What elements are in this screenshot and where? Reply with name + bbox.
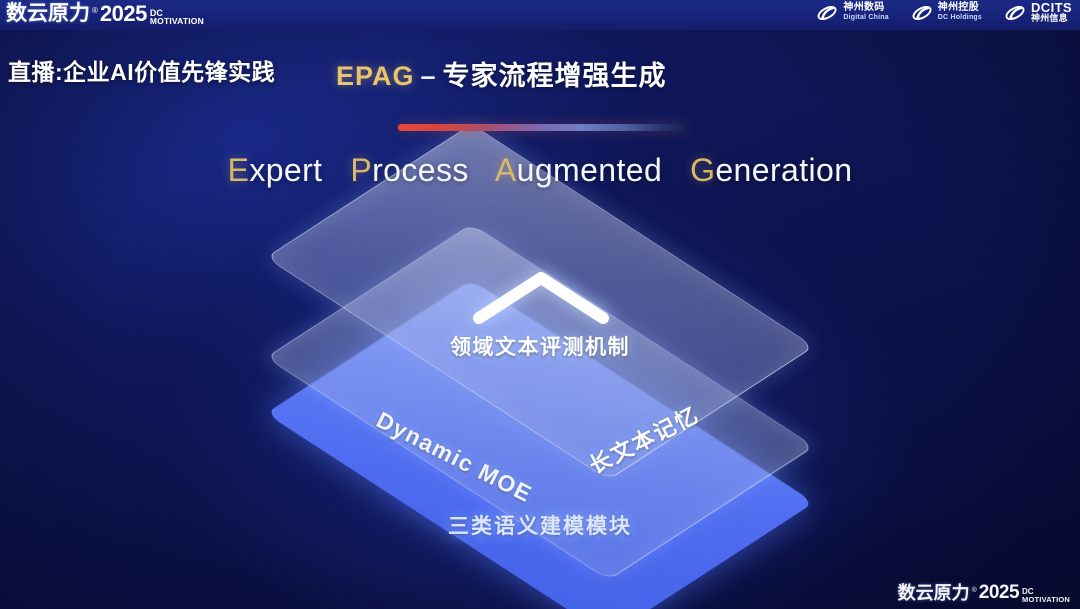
logo-label-en: Digital China <box>843 13 888 23</box>
logo-label-cn: DCITS <box>1031 3 1072 13</box>
watermark-registered-mark: ® <box>972 585 977 597</box>
logo-dcits: DCITS 神州信息 <box>1004 2 1072 24</box>
title-chinese: 专家流程增强生成 <box>443 61 667 91</box>
watermark-year: 2025 <box>979 581 1019 605</box>
swirl-logo-icon <box>911 2 933 24</box>
subtitle-cap-p: P <box>350 152 372 188</box>
subtitle-rest-generation: eneration <box>715 152 852 188</box>
live-broadcast-label: 直播:企业AI价值先锋实践 <box>8 53 275 87</box>
slide-canvas: 领域文本评测机制 Dynamic MOE 长文本记忆 三类语义建模模块 Expe… <box>0 0 1080 609</box>
title-dash: – <box>421 61 437 91</box>
brand-motivation-label: MOTIVATION <box>150 17 204 25</box>
logo-label-cn: 神州控股 <box>938 3 982 13</box>
logo-label-en: DC Holdings <box>938 13 982 23</box>
subtitle-rest-expert: xpert <box>249 152 322 188</box>
title-acronym: EPAG <box>336 61 415 91</box>
brand-name-cn: 数云原力 <box>6 2 90 26</box>
partner-logos: 神州数码 Digital China 神州控股 DC Holdings <box>816 2 1072 24</box>
gradient-divider <box>398 124 684 131</box>
subtitle-rest-augmented: ugmented <box>517 152 663 188</box>
subtitle-rest-process: rocess <box>372 152 469 188</box>
chevron-up-icon <box>471 268 611 326</box>
swirl-logo-icon <box>1004 2 1026 24</box>
logo-label-cn: 神州数码 <box>843 3 888 13</box>
watermark-name-cn: 数云原力 <box>898 581 970 605</box>
brand-year: 2025 <box>100 2 147 26</box>
logo-digital-china: 神州数码 Digital China <box>816 2 888 24</box>
subtitle-epag: Expert Process Augmented Generation <box>0 152 1080 189</box>
subtitle-cap-g: G <box>690 152 715 188</box>
subtitle-cap-e: E <box>228 152 250 188</box>
page-title: EPAG–专家流程增强生成 <box>336 54 667 93</box>
logo-label-en: 神州信息 <box>1031 13 1072 23</box>
brand-watermark-bottom-right: 数云原力 ® 2025 DC MOTIVATION <box>898 581 1070 605</box>
swirl-logo-icon <box>816 2 838 24</box>
subtitle-cap-a: A <box>495 152 517 188</box>
watermark-motivation-label: MOTIVATION <box>1022 596 1070 604</box>
brand-registered-mark: ® <box>92 5 98 17</box>
logo-dc-holdings: 神州控股 DC Holdings <box>911 2 982 24</box>
brand-logo-top-left: 数云原力 ® 2025 DC MOTIVATION <box>6 2 204 26</box>
